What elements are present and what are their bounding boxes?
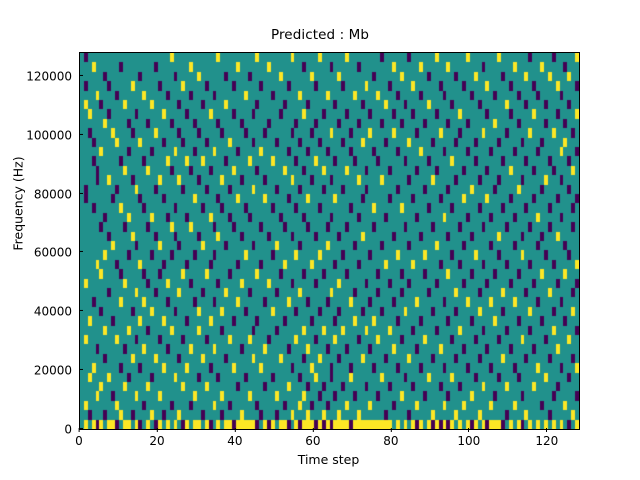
x-axis-label: Time step xyxy=(79,452,578,467)
y-tick-mark xyxy=(79,192,83,193)
heatmap-axes[interactable] xyxy=(79,52,580,430)
x-axis-tick: 80 xyxy=(383,428,398,448)
x-tick-mark xyxy=(546,428,547,432)
x-axis-tick: 120 xyxy=(535,428,558,448)
x-tick-mark xyxy=(78,428,79,432)
x-tick-label: 0 xyxy=(75,434,83,448)
y-axis-label: Frequency (Hz) xyxy=(11,74,26,334)
heatmap-image[interactable] xyxy=(80,53,579,429)
y-axis-tick: 40000 xyxy=(34,301,79,320)
y-tick-mark xyxy=(79,251,83,252)
x-tick-mark xyxy=(234,428,235,432)
x-tick-label: 60 xyxy=(305,434,320,448)
y-axis-tick: 100000 xyxy=(26,125,79,144)
x-tick-label: 100 xyxy=(457,434,480,448)
x-axis-tick: 0 xyxy=(75,428,83,448)
y-axis-tick: 60000 xyxy=(34,242,79,261)
y-tick-label: 100000 xyxy=(26,128,79,142)
x-tick-label: 40 xyxy=(227,434,242,448)
y-tick-label: 40000 xyxy=(34,305,79,319)
x-axis-tick: 20 xyxy=(149,428,164,448)
x-axis-tick: 40 xyxy=(227,428,242,448)
y-axis-tick: 120000 xyxy=(26,66,79,85)
figure-canvas: Predicted : Mb 0200004000060000800001000… xyxy=(0,0,640,480)
x-axis-tick: 60 xyxy=(305,428,320,448)
x-tick-label: 80 xyxy=(383,434,398,448)
y-tick-mark xyxy=(79,134,83,135)
y-tick-mark xyxy=(79,369,83,370)
x-tick-mark xyxy=(156,428,157,432)
y-tick-label: 60000 xyxy=(34,246,79,260)
x-tick-label: 20 xyxy=(149,434,164,448)
y-tick-mark xyxy=(79,310,83,311)
y-tick-label: 80000 xyxy=(34,187,79,201)
y-axis-tick: 20000 xyxy=(34,360,79,379)
chart-title: Predicted : Mb xyxy=(0,27,640,43)
x-tick-mark xyxy=(468,428,469,432)
y-axis-tick: 80000 xyxy=(34,184,79,203)
x-axis-tick: 100 xyxy=(457,428,480,448)
x-tick-mark xyxy=(312,428,313,432)
x-tick-label: 120 xyxy=(535,434,558,448)
y-tick-label: 20000 xyxy=(34,363,79,377)
y-tick-label: 120000 xyxy=(26,70,79,84)
x-tick-mark xyxy=(390,428,391,432)
y-tick-mark xyxy=(79,75,83,76)
